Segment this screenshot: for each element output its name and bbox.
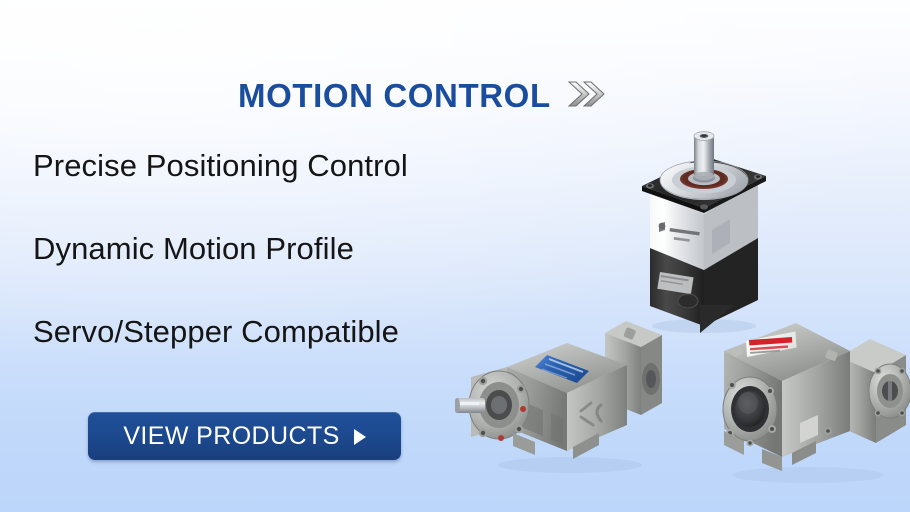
- product-image-worm-reducer: [700, 305, 910, 485]
- feature-item-1: Precise Positioning Control: [33, 150, 408, 181]
- product-image-helical-reducer: [455, 305, 670, 475]
- triangle-right-icon: [354, 429, 366, 445]
- view-products-button[interactable]: VIEW PRODUCTS: [88, 412, 401, 460]
- view-products-label: VIEW PRODUCTS: [123, 424, 339, 449]
- banner-header: MOTION CONTROL: [238, 76, 613, 114]
- page-title: MOTION CONTROL: [238, 79, 551, 112]
- motion-control-banner: MOTION CONTROL Precise Positio: [0, 0, 910, 512]
- feature-item-2: Dynamic Motion Profile: [33, 233, 408, 264]
- feature-item-3: Servo/Stepper Compatible: [33, 316, 408, 347]
- product-image-planetary-gearbox: [612, 120, 792, 335]
- feature-list: Precise Positioning Control Dynamic Moti…: [33, 150, 408, 347]
- double-chevron-right-icon: [567, 79, 613, 114]
